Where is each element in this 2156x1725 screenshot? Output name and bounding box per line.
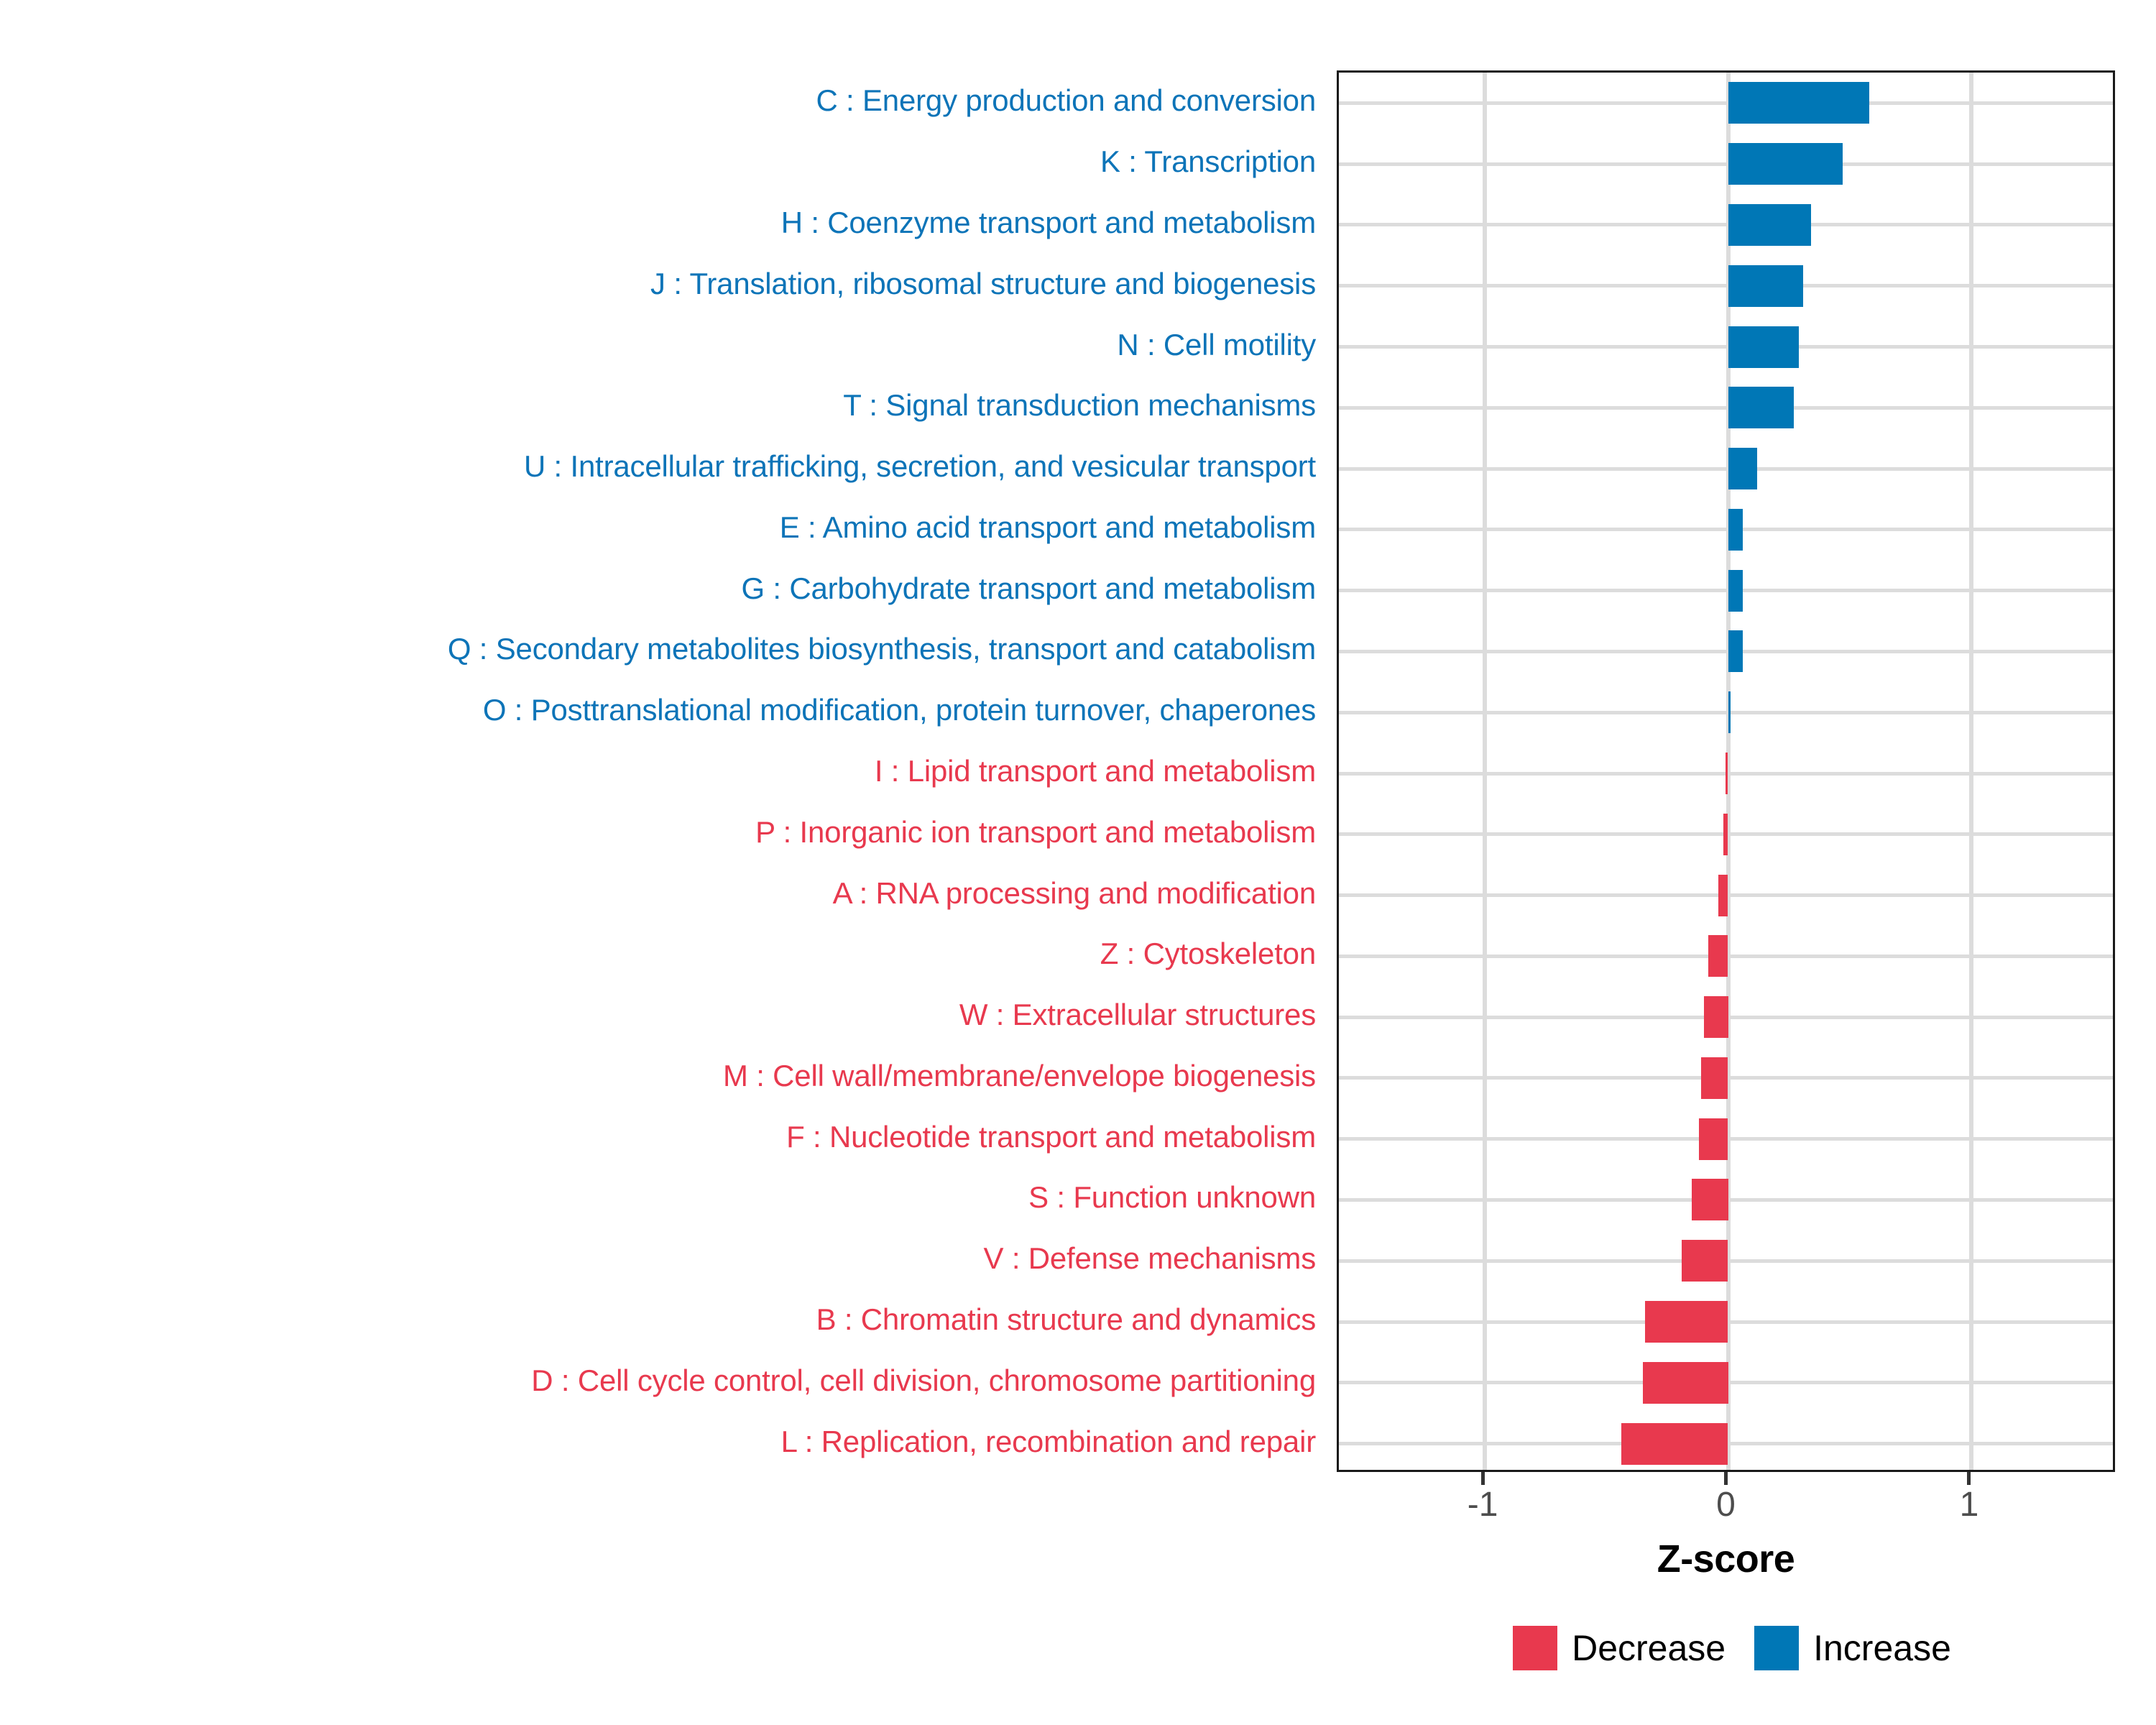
category-label-row: D : Cell cycle control, cell division, c…	[0, 1350, 1326, 1411]
legend-swatch-icon	[1754, 1626, 1799, 1670]
x-tick-label: 1	[1960, 1488, 1979, 1522]
bar	[1728, 448, 1758, 489]
x-tick-mark	[1481, 1472, 1485, 1485]
x-tick-label: -1	[1468, 1488, 1498, 1522]
legend-swatch-icon	[1513, 1626, 1557, 1670]
category-label-row: A : RNA processing and modification	[0, 862, 1326, 924]
category-label: G : Carbohydrate transport and metabolis…	[741, 574, 1316, 604]
bar-row	[1339, 316, 2113, 377]
bar-row	[1339, 499, 2113, 560]
bar-row	[1339, 377, 2113, 438]
category-label: U : Intracellular trafficking, secretion…	[524, 451, 1316, 482]
bar-row	[1339, 1292, 2113, 1353]
category-label-row: O : Posttranslational modification, prot…	[0, 680, 1326, 741]
category-label-row: G : Carbohydrate transport and metabolis…	[0, 558, 1326, 619]
bar	[1643, 1362, 1728, 1404]
category-label: I : Lipid transport and metabolism	[875, 756, 1316, 786]
bar-row	[1339, 804, 2113, 865]
x-tick-mark	[1967, 1472, 1971, 1485]
x-axis-title: Z-score	[1337, 1537, 2115, 1581]
category-label: B : Chromatin structure and dynamics	[816, 1305, 1316, 1335]
bar-row	[1339, 1048, 2113, 1109]
category-label-row: E : Amino acid transport and metabolism	[0, 497, 1326, 558]
bar-row	[1339, 1169, 2113, 1230]
category-label-row: U : Intracellular trafficking, secretion…	[0, 436, 1326, 497]
bar-row	[1339, 865, 2113, 926]
chart-root: C : Energy production and conversionK : …	[0, 0, 2156, 1725]
category-label: S : Function unknown	[1028, 1182, 1316, 1213]
bar-row	[1339, 682, 2113, 743]
bar	[1728, 204, 1811, 246]
category-label: O : Posttranslational modification, prot…	[483, 695, 1316, 725]
legend-label: Decrease	[1572, 1630, 1726, 1666]
category-label: T : Signal transduction mechanisms	[843, 390, 1316, 420]
category-label-row: L : Replication, recombination and repai…	[0, 1411, 1326, 1472]
bar-row	[1339, 1108, 2113, 1169]
x-tick-label: 0	[1716, 1488, 1736, 1522]
bar-row	[1339, 134, 2113, 195]
bar	[1699, 1118, 1728, 1160]
legend-label: Increase	[1813, 1630, 1951, 1666]
category-label-row: C : Energy production and conversion	[0, 70, 1326, 132]
bar	[1726, 753, 1728, 794]
bar	[1728, 265, 1804, 307]
category-label: Z : Cytoskeleton	[1100, 939, 1316, 969]
bar-row	[1339, 560, 2113, 621]
category-label-row: B : Chromatin structure and dynamics	[0, 1289, 1326, 1351]
category-label: F : Nucleotide transport and metabolism	[786, 1122, 1316, 1152]
category-label-row: V : Defense mechanisms	[0, 1228, 1326, 1289]
bar	[1692, 1179, 1728, 1220]
bar	[1701, 1057, 1728, 1099]
category-label-row: T : Signal transduction mechanisms	[0, 375, 1326, 436]
category-label-row: P : Inorganic ion transport and metaboli…	[0, 801, 1326, 862]
category-label-row: W : Extracellular structures	[0, 985, 1326, 1046]
category-label-row: Z : Cytoskeleton	[0, 924, 1326, 985]
bar	[1621, 1423, 1728, 1465]
bar-row	[1339, 743, 2113, 804]
category-label: P : Inorganic ion transport and metaboli…	[755, 817, 1316, 847]
category-label: D : Cell cycle control, cell division, c…	[531, 1366, 1316, 1396]
bar	[1728, 691, 1731, 733]
category-label-row: Q : Secondary metabolites biosynthesis, …	[0, 619, 1326, 680]
legend: DecreaseIncrease	[1337, 1626, 2127, 1670]
category-label: Q : Secondary metabolites biosynthesis, …	[448, 634, 1316, 664]
bar-row	[1339, 1413, 2113, 1474]
bar-row	[1339, 255, 2113, 316]
category-label-row: F : Nucleotide transport and metabolism	[0, 1106, 1326, 1167]
x-tick-mark	[1724, 1472, 1728, 1485]
category-label: M : Cell wall/membrane/envelope biogenes…	[723, 1061, 1316, 1091]
bar-row	[1339, 195, 2113, 256]
category-label-column: C : Energy production and conversionK : …	[0, 70, 1326, 1472]
category-label-row: H : Coenzyme transport and metabolism	[0, 193, 1326, 254]
category-label-row: M : Cell wall/membrane/envelope biogenes…	[0, 1046, 1326, 1107]
bar-row	[1339, 987, 2113, 1048]
category-label: V : Defense mechanisms	[984, 1243, 1316, 1274]
legend-item-decrease[interactable]: Decrease	[1513, 1626, 1726, 1670]
bar-row	[1339, 438, 2113, 500]
bar-row	[1339, 621, 2113, 682]
category-label-row: I : Lipid transport and metabolism	[0, 741, 1326, 802]
category-label: E : Amino acid transport and metabolism	[780, 512, 1316, 543]
category-label-row: K : Transcription	[0, 132, 1326, 193]
category-label-row: N : Cell motility	[0, 314, 1326, 375]
bar	[1728, 143, 1843, 185]
bar	[1645, 1301, 1728, 1343]
category-label: N : Cell motility	[1117, 330, 1316, 360]
bar	[1728, 387, 1794, 428]
category-label: J : Translation, ribosomal structure and…	[650, 269, 1316, 299]
category-label-row: S : Function unknown	[0, 1167, 1326, 1228]
bar-row	[1339, 926, 2113, 987]
bars-layer	[1339, 73, 2113, 1470]
bar	[1723, 814, 1728, 855]
category-label: C : Energy production and conversion	[816, 86, 1316, 116]
bar	[1728, 509, 1743, 551]
bar	[1704, 996, 1728, 1038]
bar	[1728, 82, 1869, 124]
bar	[1728, 570, 1743, 612]
bar	[1728, 326, 1799, 368]
bar-row	[1339, 1352, 2113, 1413]
category-label: A : RNA processing and modification	[833, 878, 1316, 908]
category-label: W : Extracellular structures	[959, 1000, 1316, 1030]
bar	[1682, 1240, 1728, 1282]
bar	[1718, 875, 1728, 916]
bar-row	[1339, 1230, 2113, 1292]
category-label: L : Replication, recombination and repai…	[781, 1427, 1316, 1457]
category-label-row: J : Translation, ribosomal structure and…	[0, 253, 1326, 314]
category-label: K : Transcription	[1100, 147, 1316, 177]
legend-item-increase[interactable]: Increase	[1754, 1626, 1951, 1670]
category-label: H : Coenzyme transport and metabolism	[781, 208, 1316, 238]
plot-panel	[1337, 70, 2115, 1472]
bar	[1708, 935, 1728, 977]
bar	[1728, 630, 1743, 672]
bar-row	[1339, 73, 2113, 134]
